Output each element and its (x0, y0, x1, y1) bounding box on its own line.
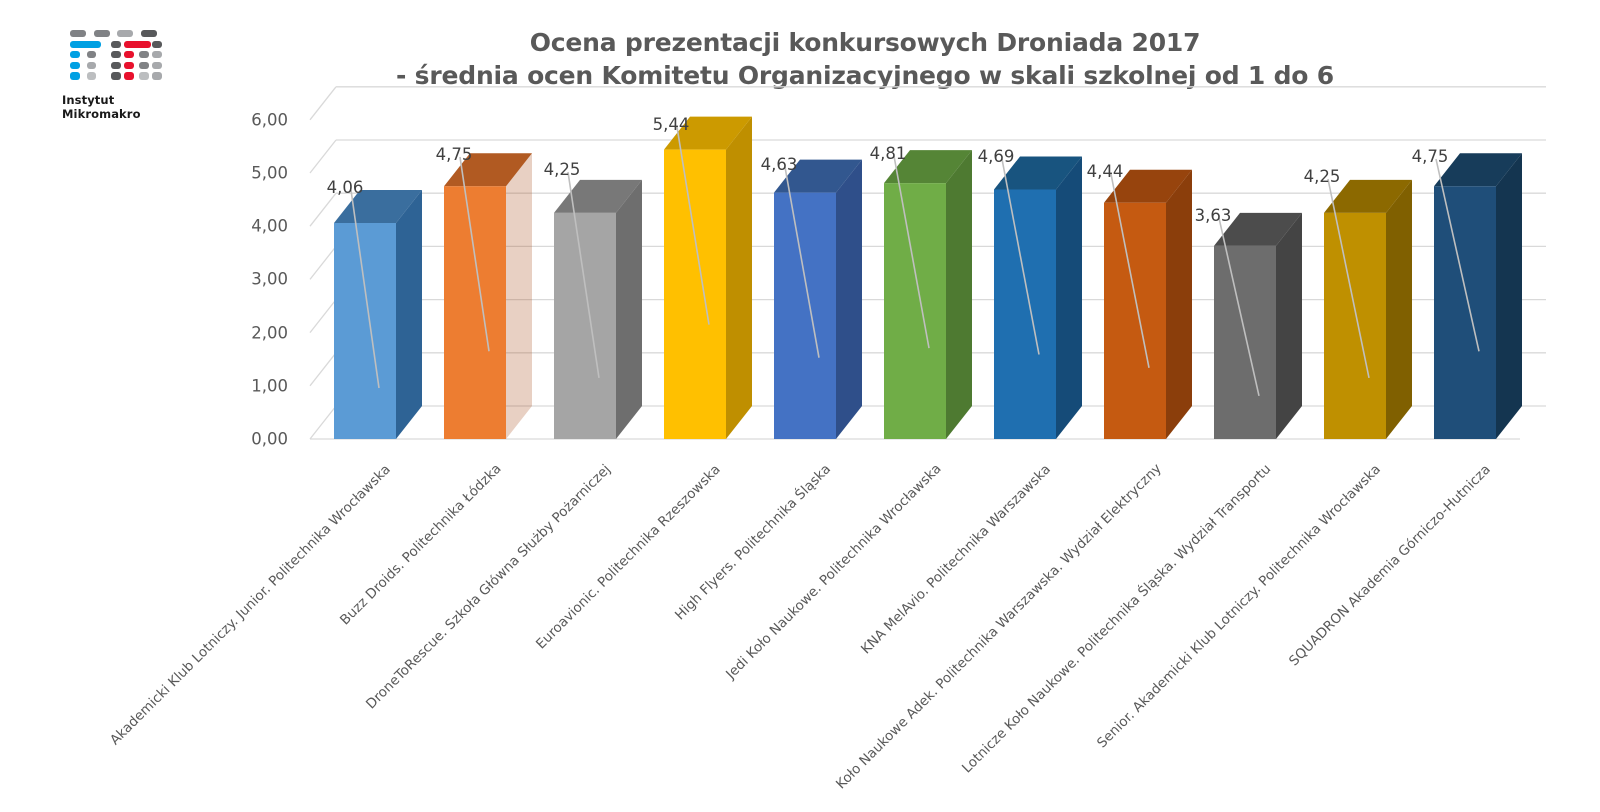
bar[interactable] (334, 190, 422, 439)
data-label: 4,69 (978, 147, 1015, 166)
data-label: 4,44 (1087, 162, 1124, 181)
bar-side-face (1056, 156, 1082, 439)
bar[interactable] (1104, 170, 1192, 439)
axis-connector-line (310, 406, 336, 439)
bar-front-face (554, 213, 616, 439)
bar-front-face (884, 183, 946, 439)
axis-connector-line (310, 300, 336, 333)
axis-connector-line (310, 87, 336, 120)
bar[interactable] (1324, 180, 1412, 439)
bar-side-face (836, 160, 862, 439)
data-label: 5,44 (653, 115, 690, 134)
y-axis-tick-label: 0,00 (198, 430, 288, 449)
bar-front-face (1104, 203, 1166, 439)
y-axis-tick-label: 2,00 (198, 323, 288, 342)
data-label: 4,63 (761, 155, 798, 174)
bar[interactable] (664, 117, 752, 439)
bar-front-face (664, 150, 726, 439)
data-label: 3,63 (1195, 206, 1232, 225)
bar[interactable] (774, 160, 862, 439)
bar[interactable] (1434, 153, 1522, 439)
bar-side-face (396, 190, 422, 439)
chart-plot-area: 4,064,754,255,444,634,814,694,443,634,25… (0, 0, 1600, 812)
bar-side-face (1166, 170, 1192, 439)
y-axis-tick-label: 4,00 (198, 217, 288, 236)
bars (334, 117, 1522, 439)
bar-side-face (506, 153, 532, 439)
bar[interactable] (994, 156, 1082, 439)
bar[interactable] (444, 153, 532, 439)
data-label: 4,25 (1304, 167, 1341, 186)
axis-connector-line (310, 246, 336, 279)
bar[interactable] (884, 150, 972, 439)
bar-front-face (774, 193, 836, 439)
bar-side-face (726, 117, 752, 439)
bar-front-face (994, 189, 1056, 439)
data-label: 4,75 (1412, 147, 1449, 166)
bar-front-face (334, 223, 396, 439)
bar-front-face (1324, 213, 1386, 439)
data-label: 4,75 (436, 145, 473, 164)
chart-page: Instytut Mikromakro Ocena prezentacji ko… (0, 0, 1600, 812)
axis-connector-line (310, 140, 336, 173)
data-label: 4,06 (327, 178, 364, 197)
y-axis-tick-label: 6,00 (198, 110, 288, 129)
data-label: 4,81 (870, 144, 907, 163)
bar-front-face (444, 186, 506, 439)
y-axis-tick-label: 3,00 (198, 270, 288, 289)
axis-connector-line (310, 353, 336, 386)
bar-side-face (1496, 153, 1522, 439)
bar-side-face (616, 180, 642, 439)
bar-front-face (1434, 186, 1496, 439)
bar-side-face (1386, 180, 1412, 439)
bar[interactable] (554, 180, 642, 439)
bar-side-face (946, 150, 972, 439)
bar-front-face (1214, 246, 1276, 439)
bar-side-face (1276, 213, 1302, 439)
bar[interactable] (1214, 213, 1302, 439)
data-label: 4,25 (544, 160, 581, 179)
axis-connector-line (310, 193, 336, 226)
y-axis-tick-label: 5,00 (198, 164, 288, 183)
y-axis-tick-label: 1,00 (198, 376, 288, 395)
